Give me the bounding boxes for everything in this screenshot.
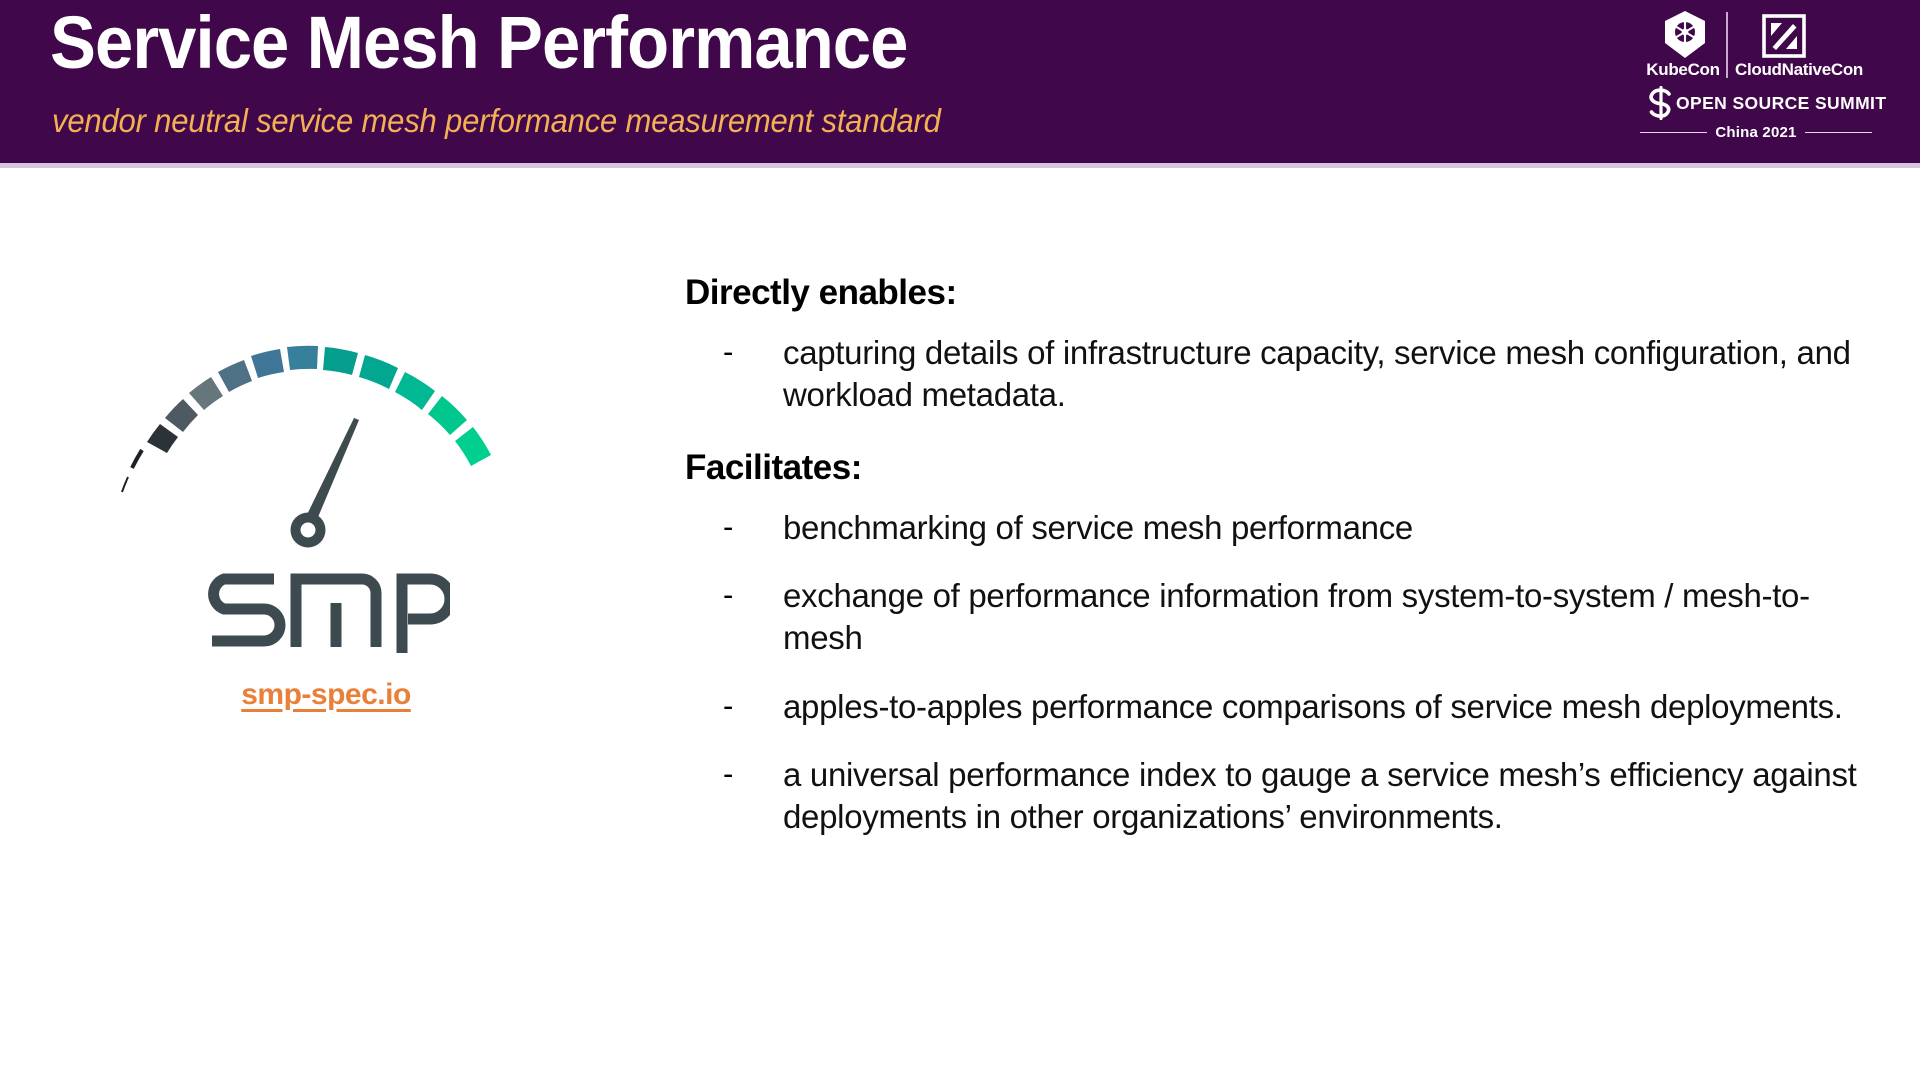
rule-left <box>1640 132 1707 134</box>
section-heading: Facilitates: <box>685 450 1865 487</box>
bullet-text: benchmarking of service mesh performance <box>783 507 1413 549</box>
bullet-marker: - <box>685 754 783 838</box>
smp-gauge <box>96 280 556 580</box>
bullet-text: apples-to-apples performance comparisons… <box>783 686 1843 728</box>
header-underline <box>0 163 1920 168</box>
rule-right <box>1805 132 1872 134</box>
slide-root: Service Mesh Performance vendor neutral … <box>0 0 1920 1080</box>
bullet-marker: - <box>685 332 783 416</box>
bullet-list: - benchmarking of service mesh performan… <box>685 507 1865 838</box>
content-column: Directly enables: - capturing details of… <box>685 275 1865 838</box>
event-logo-cluster: KubeCon CloudNativeCon OPEN SOURCE SUMMI… <box>1640 8 1872 156</box>
smp-spec-link[interactable]: smp-spec.io <box>241 678 411 712</box>
open-source-summit-row: OPEN SOURCE SUMMIT <box>1640 86 1872 120</box>
cloudnativecon-icon <box>1762 14 1806 58</box>
bullet-marker: - <box>685 507 783 549</box>
section-facilitates: Facilitates: - benchmarking of service m… <box>685 450 1865 838</box>
section-heading: Directly enables: <box>685 275 1865 312</box>
bullet-marker: - <box>685 575 783 659</box>
kubecon-label: KubeCon <box>1640 60 1726 80</box>
event-location-label: China 2021 <box>1715 124 1796 141</box>
list-item: - a universal performance index to gauge… <box>685 754 1865 838</box>
page-title: Service Mesh Performance <box>50 6 907 80</box>
bullet-text: exchange of performance information from… <box>783 575 1865 659</box>
logo-names-row: KubeCon CloudNativeCon <box>1640 60 1872 80</box>
open-source-summit-label: OPEN SOURCE SUMMIT <box>1676 93 1886 114</box>
event-location-row: China 2021 <box>1640 124 1872 141</box>
gauge-arc-icon <box>96 280 556 580</box>
list-item: - benchmarking of service mesh performan… <box>685 507 1865 549</box>
smp-link-row: smp-spec.io <box>96 678 556 712</box>
smp-logo-block: smp-spec.io <box>96 280 556 712</box>
bullet-text: a universal performance index to gauge a… <box>783 754 1865 838</box>
kubernetes-helm-icon <box>1662 10 1708 60</box>
logo-marks-row <box>1640 8 1872 66</box>
bullet-list: - capturing details of infrastructure ca… <box>685 332 1865 416</box>
section-directly-enables: Directly enables: - capturing details of… <box>685 275 1865 416</box>
page-subtitle: vendor neutral service mesh performance … <box>52 104 941 137</box>
summit-s-icon <box>1644 86 1678 120</box>
bullet-text: capturing details of infrastructure capa… <box>783 332 1865 416</box>
list-item: - exchange of performance information fr… <box>685 575 1865 659</box>
bullet-marker: - <box>685 686 783 728</box>
list-item: - apples-to-apples performance compariso… <box>685 686 1865 728</box>
section-gap <box>685 416 1865 450</box>
cloudnativecon-label: CloudNativeCon <box>1726 60 1872 80</box>
list-item: - capturing details of infrastructure ca… <box>685 332 1865 416</box>
gauge-needle <box>291 418 360 548</box>
